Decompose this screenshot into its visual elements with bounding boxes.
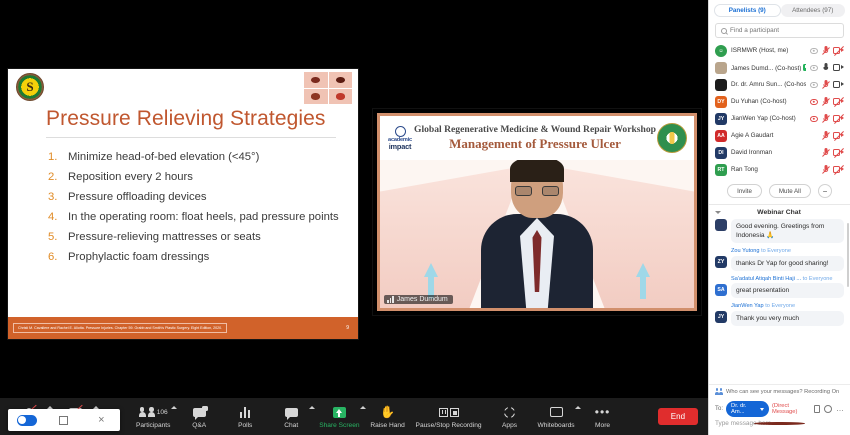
- popover-toggle[interactable]: [8, 409, 45, 431]
- toolbar-recording-button[interactable]: Pause/Stop Recording: [411, 398, 487, 435]
- camera-off-icon[interactable]: [833, 132, 844, 139]
- toolbar-qa-button[interactable]: Q&A: [176, 398, 222, 435]
- backdrop-arrow-right-icon: [636, 263, 650, 277]
- zoom-webinar-window: Pressure Relieving Strategies 1.Minimize…: [0, 0, 850, 435]
- end-meeting-button[interactable]: End: [658, 408, 698, 425]
- backdrop-arrow-left-icon: [424, 263, 438, 277]
- chat-message-text: great presentation: [731, 283, 844, 298]
- chat-input-placeholder[interactable]: Type message here...: [715, 420, 844, 427]
- chat-icon: [285, 405, 298, 420]
- screen-share-badge-icon: [803, 64, 806, 71]
- more-options-button[interactable]: −: [818, 184, 832, 198]
- chat-message-text: Thank you very much: [731, 311, 844, 326]
- chat-sender: Zou Yutong to Everyone: [731, 248, 844, 254]
- participant-search[interactable]: [715, 23, 844, 38]
- avatar: ☺: [715, 45, 727, 57]
- slide-bullet-list: 1.Minimize head-of-bed elevation (<45°) …: [48, 151, 348, 271]
- avatar: RT: [715, 164, 727, 176]
- camera-off-icon[interactable]: [833, 149, 844, 156]
- list-item: 4.In the operating room: float heels, pa…: [48, 211, 348, 224]
- privacy-people-icon: [715, 388, 723, 395]
- mic-muted-icon[interactable]: [822, 46, 829, 55]
- chat-sender: Sa'adatul Atiqah Binti Haji ... to Every…: [731, 276, 844, 282]
- chat-actions: …: [814, 405, 844, 413]
- toolbar-polls-button[interactable]: Polls: [222, 398, 268, 435]
- list-item: 5.Pressure-relieving mattresses or seats: [48, 231, 348, 244]
- side-panel: Panelists (9) Attendees (97) ☺ ISRMWR (H…: [708, 0, 850, 435]
- chat-message: SA Sa'adatul Atiqah Binti Haji ... to Ev…: [715, 276, 844, 299]
- chat-message: Good evening. Greetings from Indonesia 🙏: [715, 219, 844, 243]
- emoji-icon[interactable]: [824, 405, 832, 413]
- mic-muted-icon[interactable]: [822, 165, 829, 174]
- slide-citation: Christi M. Cavaliere and Rachel E. Aliot…: [13, 323, 227, 333]
- search-input[interactable]: [730, 27, 838, 34]
- view-icon[interactable]: [810, 82, 818, 88]
- whiteboard-icon: [550, 405, 563, 420]
- avatar: AA: [715, 130, 727, 142]
- participant-name: Ran Tong: [731, 166, 818, 173]
- view-blocked-icon[interactable]: [810, 116, 818, 122]
- participant-controls: [810, 97, 844, 106]
- avatar: [715, 79, 727, 91]
- camera-off-icon[interactable]: [833, 98, 844, 105]
- list-item[interactable]: AA Agie A Gaudart: [709, 127, 850, 144]
- video-frame: academic impact Global Regenerative Medi…: [377, 113, 697, 311]
- mic-muted-icon[interactable]: [822, 97, 829, 106]
- popover-square-icon[interactable]: [45, 409, 82, 431]
- toolbar-participants-button[interactable]: 106 Participants: [130, 398, 176, 435]
- list-item[interactable]: DY Du Yuhan (Co-host): [709, 93, 850, 110]
- chat-sender: JianWen Yap to Everyone: [731, 303, 844, 309]
- participant-name: Agie A Gaudart: [731, 132, 818, 139]
- chat-privacy-note[interactable]: Who can see your messages? Recording On: [709, 384, 850, 398]
- avatar: ZY: [715, 256, 727, 268]
- virtual-background-banner: academic impact Global Regenerative Medi…: [380, 116, 694, 160]
- chat-input-wrap[interactable]: Type message here...: [709, 418, 850, 435]
- participant-controls: [822, 148, 844, 157]
- participant-search-wrap: [709, 20, 850, 42]
- view-blocked-icon[interactable]: [810, 99, 818, 105]
- chevron-down-icon: [760, 408, 764, 411]
- toolbar-chat-button[interactable]: Chat: [268, 398, 314, 435]
- participant-actions: Invite Mute All −: [709, 178, 850, 204]
- view-icon[interactable]: [810, 65, 818, 71]
- list-item: 6.Prophylactic foam dressings: [48, 251, 348, 264]
- chat-message: ZY Zou Yutong to Everyone thanks Dr Yap …: [715, 248, 844, 271]
- slide-page-number: 9: [346, 325, 349, 331]
- participant-name: Dr. dr. Amru Sun... (Co-host): [731, 81, 806, 88]
- mic-muted-icon[interactable]: [822, 114, 829, 123]
- tab-attendees[interactable]: Attendees (97): [781, 4, 846, 17]
- more-icon: •••: [595, 405, 611, 420]
- avatar: SA: [715, 284, 727, 296]
- banner-titles: Global Regenerative Medicine & Wound Rep…: [413, 124, 657, 152]
- list-item[interactable]: Dr. dr. Amru Sun... (Co-host): [709, 76, 850, 93]
- meeting-toolbar: Unmute Start Video 106 Participants: [0, 398, 708, 435]
- workshop-title: Global Regenerative Medicine & Wound Rep…: [413, 124, 657, 135]
- shared-content-area: Pressure Relieving Strategies 1.Minimize…: [0, 0, 708, 398]
- participant-controls: [810, 46, 844, 55]
- panel-tabs: Panelists (9) Attendees (97): [709, 0, 850, 20]
- chat-scrollbar[interactable]: [847, 223, 850, 287]
- speaker-video-tile[interactable]: academic impact Global Regenerative Medi…: [372, 108, 702, 316]
- participants-icon: 106: [139, 405, 168, 420]
- camera-off-icon[interactable]: [833, 47, 844, 54]
- avatar: DI: [715, 147, 727, 159]
- slide-title-divider: [46, 137, 336, 138]
- list-item[interactable]: James Dumd... (Co-host): [709, 59, 850, 76]
- privacy-note-text: Who can see your messages? Recording On: [726, 389, 839, 395]
- participant-controls: [810, 63, 844, 72]
- raise-hand-icon: ✋: [380, 405, 395, 420]
- camera-on-icon[interactable]: [833, 81, 844, 88]
- toolbar-whiteboards-button[interactable]: Whiteboards: [533, 398, 580, 435]
- list-item: 2.Reposition every 2 hours: [48, 171, 348, 184]
- share-screen-icon: [333, 405, 346, 420]
- list-item[interactable]: JY JianWen Yap (Co-host): [709, 110, 850, 127]
- participants-list: ☺ ISRMWR (Host, me) James Dumd... (Co-ho…: [709, 42, 850, 178]
- participant-name: ISRMWR (Host, me): [731, 47, 806, 54]
- participant-controls: [810, 114, 844, 123]
- list-item[interactable]: DI David Ironman: [709, 144, 850, 161]
- chat-message: JY JianWen Yap to Everyone Thank you ver…: [715, 303, 844, 326]
- session-title: Management of Pressure Ulcer: [413, 136, 657, 152]
- camera-on-icon[interactable]: [833, 64, 844, 71]
- mic-on-icon[interactable]: [822, 63, 829, 72]
- avatar: [715, 62, 727, 74]
- participant-name: David Ironman: [731, 149, 818, 156]
- list-item: 3.Pressure offloading devices: [48, 191, 348, 204]
- chat-recipient-row: To: Dr. dr. Am... (Direct Message) …: [709, 398, 850, 418]
- recording-icon: [439, 405, 459, 420]
- avatar: JY: [715, 113, 727, 125]
- chat-messages[interactable]: Good evening. Greetings from Indonesia 🙏…: [709, 219, 850, 384]
- participant-controls: [822, 131, 844, 140]
- avatar: DY: [715, 96, 727, 108]
- popover-close-icon[interactable]: ×: [83, 409, 120, 431]
- mic-muted-icon[interactable]: [822, 131, 829, 140]
- qa-icon: [193, 405, 206, 420]
- wound-photos-thumbnail: [304, 72, 352, 104]
- mic-muted-icon[interactable]: [822, 80, 829, 89]
- camera-off-icon[interactable]: [833, 166, 844, 173]
- slide-footer: Christi M. Cavaliere and Rachel E. Aliot…: [8, 317, 358, 339]
- audio-level-icon: [387, 296, 394, 303]
- toolbar-more-button[interactable]: ••• More: [580, 398, 626, 435]
- chat-message-text: thanks Dr Yap for good sharing!: [731, 256, 844, 271]
- organization-seal-icon: [657, 123, 687, 153]
- speaker-name-label: James Dumdum: [384, 295, 453, 304]
- file-icon[interactable]: [814, 405, 820, 413]
- toolbar-apps-button[interactable]: Apps: [487, 398, 533, 435]
- recipient-dropdown[interactable]: Dr. dr. Am...: [726, 401, 769, 417]
- camera-off-icon[interactable]: [833, 115, 844, 122]
- participant-name: Du Yuhan (Co-host): [731, 98, 806, 105]
- list-item: 1.Minimize head-of-bed elevation (<45°): [48, 151, 348, 164]
- list-item[interactable]: RT Ran Tong: [709, 161, 850, 178]
- chat-title: Webinar Chat: [721, 209, 837, 216]
- apps-icon: [504, 405, 515, 420]
- participant-controls: [810, 80, 844, 89]
- shared-slide[interactable]: Pressure Relieving Strategies 1.Minimize…: [7, 68, 359, 340]
- direct-message-label: (Direct Message): [772, 403, 811, 415]
- view-icon[interactable]: [810, 48, 818, 54]
- more-icon[interactable]: …: [836, 405, 844, 413]
- speaker-figure: [481, 158, 593, 308]
- mic-muted-icon[interactable]: [822, 148, 829, 157]
- participant-controls: [822, 165, 844, 174]
- participant-name: JianWen Yap (Co-host): [731, 115, 806, 122]
- avatar: JY: [715, 311, 727, 323]
- audio-device-popover[interactable]: ×: [8, 409, 120, 431]
- chat-header: Webinar Chat: [709, 204, 850, 219]
- mute-all-button[interactable]: Mute All: [769, 184, 811, 198]
- toolbar-raise-hand-button[interactable]: ✋ Raise Hand: [365, 398, 411, 435]
- toolbar-share-screen-button[interactable]: Share Screen: [314, 398, 364, 435]
- un-academic-impact-logo-icon: academic impact: [387, 126, 413, 151]
- participant-name: James Dumd... (Co-host): [731, 64, 806, 72]
- search-icon: [721, 28, 727, 34]
- recipient-name: Dr. dr. Am...: [731, 403, 757, 415]
- meeting-stage: Pressure Relieving Strategies 1.Minimize…: [0, 0, 708, 435]
- participants-count: 106: [157, 409, 168, 416]
- slide-title: Pressure Relieving Strategies: [46, 107, 346, 131]
- invite-button[interactable]: Invite: [727, 184, 762, 198]
- avatar: [715, 219, 727, 231]
- tab-panelists[interactable]: Panelists (9): [714, 4, 781, 17]
- chat-message-text: Good evening. Greetings from Indonesia 🙏: [731, 219, 844, 243]
- list-item[interactable]: ☺ ISRMWR (Host, me): [709, 42, 850, 59]
- institution-logo-icon: [16, 73, 44, 101]
- to-label: To:: [715, 406, 723, 412]
- polls-icon: [240, 405, 250, 420]
